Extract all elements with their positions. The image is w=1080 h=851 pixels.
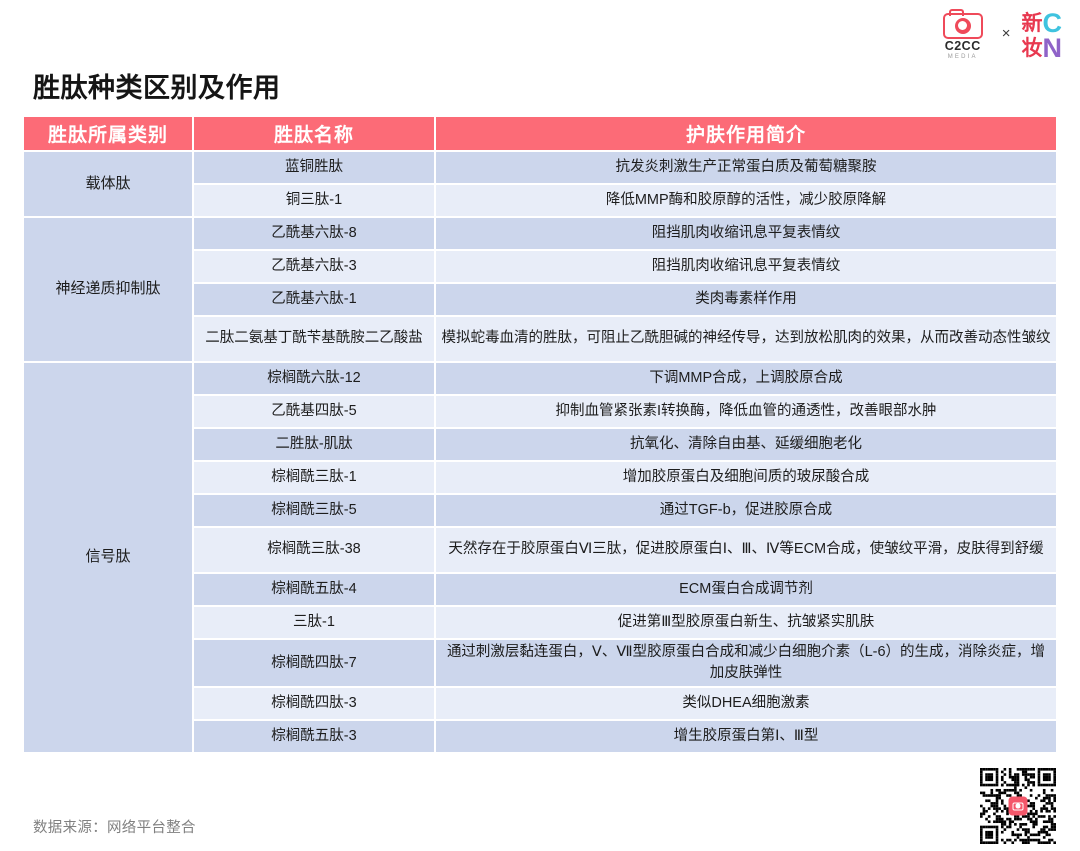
cell-peptide-description: 促进第Ⅲ型胶原蛋白新生、抗皱紧实肌肤 — [436, 607, 1056, 638]
xinzhuang-char-bottom: 妆 — [1022, 39, 1043, 58]
cell-peptide-name: 棕榈酰四肽-3 — [194, 688, 434, 719]
cell-peptide-description: 下调MMP合成，上调胶原合成 — [436, 363, 1056, 394]
cell-peptide-description: ECM蛋白合成调节剂 — [436, 574, 1056, 605]
cell-peptide-name: 棕榈酰三肽-38 — [194, 528, 434, 572]
cell-category: 载体肽 — [24, 152, 192, 216]
c2cc-subtitle: MEDIA — [948, 54, 978, 60]
peptide-table: 胜肽所属类别 胜肽名称 护肤作用简介 载体肽蓝铜胜肽抗发炎刺激生产正常蛋白质及葡… — [22, 115, 1058, 754]
cell-peptide-description: 阻挡肌肉收缩讯息平复表情纹 — [436, 251, 1056, 282]
cell-peptide-name: 二肽二氨基丁酰苄基酰胺二乙酸盐 — [194, 317, 434, 361]
cell-peptide-name: 乙酰基六肽-3 — [194, 251, 434, 282]
cell-category: 神经递质抑制肽 — [24, 218, 192, 361]
cell-peptide-description: 增生胶原蛋白第Ⅰ、Ⅲ型 — [436, 721, 1056, 752]
table-body: 载体肽蓝铜胜肽抗发炎刺激生产正常蛋白质及葡萄糖聚胺铜三肽-1降低MMP酶和胶原醇… — [24, 152, 1056, 752]
cell-peptide-name: 棕榈酰三肽-1 — [194, 462, 434, 493]
cell-peptide-description: 抗氧化、清除自由基、延缓细胞老化 — [436, 429, 1056, 460]
qr-center-camera-icon — [1013, 802, 1024, 810]
cell-peptide-name: 三肽-1 — [194, 607, 434, 638]
table-row: 信号肽棕榈酰六肽-12下调MMP合成，上调胶原合成 — [24, 363, 1056, 394]
cell-peptide-name: 铜三肽-1 — [194, 185, 434, 216]
brand-bar: C2CC MEDIA × 新 C 妆 N — [935, 8, 1062, 64]
c2cc-wordmark: C2CC — [945, 40, 981, 53]
cell-peptide-description: 抗发炎刺激生产正常蛋白质及葡萄糖聚胺 — [436, 152, 1056, 183]
cell-peptide-name: 棕榈酰五肽-3 — [194, 721, 434, 752]
qr-center-logo — [1009, 797, 1028, 816]
cell-peptide-name: 蓝铜胜肽 — [194, 152, 434, 183]
cell-peptide-description: 类似DHEA细胞激素 — [436, 688, 1056, 719]
page-title: 胜肽种类区别及作用 — [33, 66, 281, 105]
cell-peptide-description: 通过刺激层黏连蛋白，Ⅴ、Ⅶ型胶原蛋白合成和减少白细胞介素（L-6）的生成，消除炎… — [436, 640, 1056, 686]
xinzhuang-char-top: 新 — [1022, 14, 1043, 33]
cell-peptide-description: 阻挡肌肉收缩讯息平复表情纹 — [436, 218, 1056, 249]
camera-lens-icon — [955, 18, 971, 34]
cell-peptide-name: 棕榈酰三肽-5 — [194, 495, 434, 526]
peptide-table-wrapper: 胜肽所属类别 胜肽名称 护肤作用简介 载体肽蓝铜胜肽抗发炎刺激生产正常蛋白质及葡… — [22, 115, 1058, 754]
table-row: 载体肽蓝铜胜肽抗发炎刺激生产正常蛋白质及葡萄糖聚胺 — [24, 152, 1056, 183]
col-header-category: 胜肽所属类别 — [24, 117, 192, 150]
footer-notes: 数据来源：网络平台整合 制 表：C2CC传媒数据中心 数据采集时间：2022年1… — [33, 766, 240, 851]
cell-peptide-name: 乙酰基四肽-5 — [194, 396, 434, 427]
cell-peptide-name: 棕榈酰五肽-4 — [194, 574, 434, 605]
cell-peptide-name: 棕榈酰四肽-7 — [194, 640, 434, 686]
cell-peptide-description: 天然存在于胶原蛋白Ⅵ三肽，促进胶原蛋白Ⅰ、Ⅲ、Ⅳ等ECM合成，使皱纹平滑，皮肤得… — [436, 528, 1056, 572]
table-row: 神经递质抑制肽乙酰基六肽-8阻挡肌肉收缩讯息平复表情纹 — [24, 218, 1056, 249]
slide-page: C2CC MEDIA × 新 C 妆 N 胜肽种类区别及作用 胜肽所属类别 胜肽… — [0, 0, 1080, 851]
col-header-desc: 护肤作用简介 — [436, 117, 1056, 150]
qr-code[interactable] — [980, 768, 1056, 844]
cell-category: 信号肽 — [24, 363, 192, 752]
cell-peptide-description: 通过TGF-b，促进胶原合成 — [436, 495, 1056, 526]
cell-peptide-description: 增加胶原蛋白及细胞间质的玻尿酸合成 — [436, 462, 1056, 493]
c2cc-logo: C2CC MEDIA — [935, 13, 991, 60]
table-head: 胜肽所属类别 胜肽名称 护肤作用简介 — [24, 117, 1056, 150]
table-header-row: 胜肽所属类别 胜肽名称 护肤作用简介 — [24, 117, 1056, 150]
cell-peptide-name: 二胜肽-肌肽 — [194, 429, 434, 460]
cell-peptide-name: 乙酰基六肽-1 — [194, 284, 434, 315]
xinzhuang-logo: 新 C 妆 N — [1022, 11, 1063, 61]
cell-peptide-name: 乙酰基六肽-8 — [194, 218, 434, 249]
camera-icon — [943, 13, 983, 39]
brand-separator: × — [1000, 25, 1013, 42]
xinzhuang-letter-bottom: N — [1043, 36, 1063, 61]
col-header-name: 胜肽名称 — [194, 117, 434, 150]
cell-peptide-description: 类肉毒素样作用 — [436, 284, 1056, 315]
footer-source: 数据来源：网络平台整合 — [33, 816, 240, 841]
cell-peptide-description: 抑制血管紧张素I转换酶，降低血管的通透性，改善眼部水肿 — [436, 396, 1056, 427]
cell-peptide-description: 模拟蛇毒血清的胜肽，可阻止乙酰胆碱的神经传导，达到放松肌肉的效果，从而改善动态性… — [436, 317, 1056, 361]
cell-peptide-description: 降低MMP酶和胶原醇的活性，减少胶原降解 — [436, 185, 1056, 216]
cell-peptide-name: 棕榈酰六肽-12 — [194, 363, 434, 394]
